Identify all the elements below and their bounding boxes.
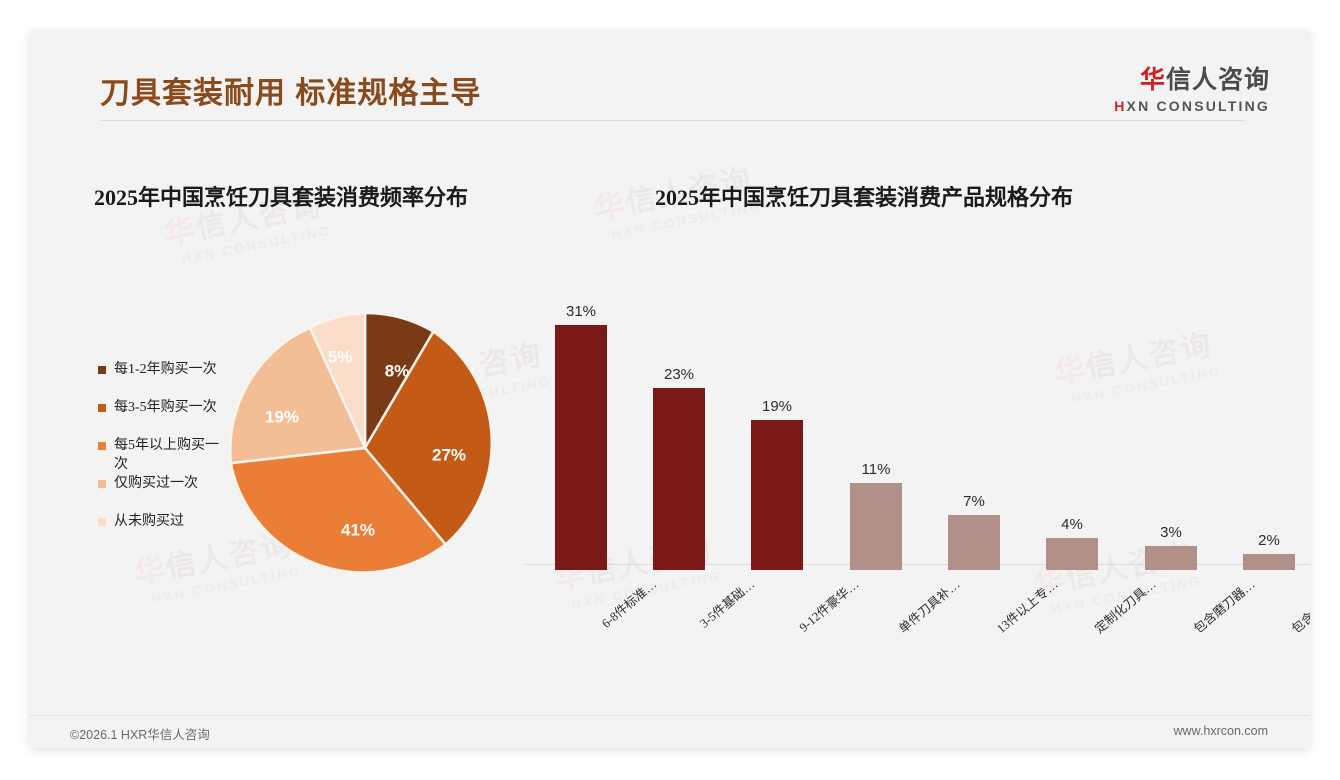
legend-swatch-icon bbox=[98, 404, 106, 412]
bar-value-label: 31% bbox=[539, 303, 623, 320]
legend-item-label: 仅购买过一次 bbox=[114, 474, 198, 493]
pie-chart: 8% 27% 41% 19% 5% bbox=[225, 308, 505, 588]
logo-english-text: HXN CONSULTING bbox=[1114, 98, 1270, 114]
bar-value-label: 2% bbox=[1227, 532, 1310, 549]
bar-x-axis-label: 13件以上专… bbox=[992, 574, 1062, 637]
legend-item-label: 每5年以上购买一次 bbox=[114, 436, 219, 474]
bar-x-axis-label: 9-12件豪华… bbox=[794, 574, 862, 635]
footer-bar: ©2026.1 HXR华信人咨询 www.hxrcon.com bbox=[30, 715, 1310, 748]
footer-copyright: ©2026.1 HXR华信人咨询 bbox=[70, 724, 210, 743]
bar-value-label: 3% bbox=[1129, 524, 1213, 541]
bar-rect[interactable] bbox=[555, 325, 607, 570]
pie-chart-title: 2025年中国烹饪刀具套装消费频率分布 bbox=[94, 180, 468, 212]
header-divider bbox=[100, 120, 1245, 121]
pie-chart-svg: 8% 27% 41% 19% 5% bbox=[225, 308, 505, 588]
pie-slice-label: 27% bbox=[432, 445, 466, 464]
legend-item-label: 每3-5年购买一次 bbox=[114, 398, 217, 417]
bar-x-axis-label: 包含磨刀器… bbox=[1189, 574, 1259, 637]
logo-chinese-text: 华信人咨询 bbox=[1114, 60, 1270, 96]
legend-item-label: 从未购买过 bbox=[114, 512, 184, 531]
bar-rect[interactable] bbox=[1046, 538, 1098, 570]
slide-canvas: 华信人咨询 HXN CONSULTING 华信人咨询 HXN CONSULTIN… bbox=[30, 30, 1310, 748]
bar-x-axis-label: 包含刀架套装 bbox=[1287, 574, 1310, 637]
bar-value-label: 23% bbox=[637, 366, 721, 383]
bar-rect[interactable] bbox=[850, 483, 902, 570]
bar-rect[interactable] bbox=[1243, 554, 1295, 570]
pie-slice-label: 8% bbox=[385, 361, 410, 380]
bar-x-axis-label: 定制化刀具… bbox=[1090, 574, 1160, 637]
bar-value-label: 11% bbox=[834, 461, 918, 478]
bar-value-label: 4% bbox=[1030, 516, 1114, 533]
bar-x-axis-label: 6-8件标准… bbox=[597, 574, 660, 631]
page-title: 刀具套装耐用 标准规格主导 bbox=[100, 68, 481, 112]
pie-slice-label: 19% bbox=[265, 407, 299, 426]
bar-rect[interactable] bbox=[751, 420, 803, 570]
bar-rect[interactable] bbox=[1145, 546, 1197, 570]
company-logo: 华信人咨询 HXN CONSULTING bbox=[1114, 60, 1270, 114]
bar-value-label: 19% bbox=[735, 398, 819, 415]
bar-chart-title: 2025年中国烹饪刀具套装消费产品规格分布 bbox=[655, 180, 1073, 212]
bar-chart: 31% 23% 19% 11% 7% 4% 3% 2% bbox=[525, 280, 1310, 570]
bar-rect[interactable] bbox=[948, 515, 1000, 570]
bar-value-label: 7% bbox=[932, 493, 1016, 510]
legend-swatch-icon bbox=[98, 366, 106, 374]
legend-item-label: 每1-2年购买一次 bbox=[114, 360, 217, 379]
pie-slice-label: 41% bbox=[341, 520, 375, 539]
footer-website[interactable]: www.hxrcon.com bbox=[1174, 724, 1268, 738]
legend-swatch-icon bbox=[98, 480, 106, 488]
bar-rect[interactable] bbox=[653, 388, 705, 570]
legend-swatch-icon bbox=[98, 518, 106, 526]
bar-x-axis-label: 3-5件基础… bbox=[695, 574, 758, 631]
legend-swatch-icon bbox=[98, 442, 106, 450]
pie-slice-label: 5% bbox=[328, 347, 353, 366]
watermark-en-text: HXN CONSULTING bbox=[180, 223, 332, 267]
bar-x-axis-label: 单件刀具补… bbox=[894, 574, 964, 637]
